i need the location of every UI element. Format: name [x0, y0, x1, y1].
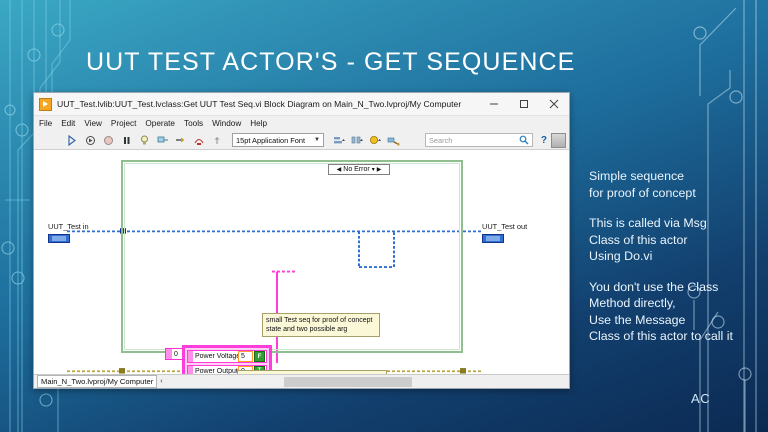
status-context-label: Main_N_Two.lvproj/My Computer	[37, 375, 157, 388]
cluster-row-name: Power Voltage	[193, 353, 238, 360]
reorder-icon[interactable]	[387, 134, 400, 147]
status-arrow-icon[interactable]: ‹	[160, 378, 162, 385]
step-out-icon[interactable]	[210, 134, 223, 147]
comment-line: the error cluster across even in the "No…	[241, 373, 383, 374]
window-titlebar[interactable]: UUT_Test.lvlib:UUT_Test.lvclass:Get UUT …	[34, 93, 569, 116]
close-icon[interactable]	[539, 93, 569, 115]
note-line: This is called via Msg	[589, 215, 767, 232]
toolbar: 15pt Application Font ▼ Search ?	[34, 131, 569, 150]
note-line: Method directly,	[589, 295, 767, 312]
note-block: Simple sequence for proof of concept	[589, 168, 767, 201]
chevron-down-icon: ▼	[314, 137, 320, 143]
status-bar: Main_N_Two.lvproj/My Computer ‹	[34, 374, 569, 388]
step-into-icon[interactable]	[174, 134, 187, 147]
note-line: Class of this actor to call it	[589, 328, 767, 345]
notes-panel: Simple sequence for proof of concept Thi…	[589, 168, 767, 359]
font-selector-label: 15pt Application Font	[236, 136, 314, 145]
note-line: for proof of concept	[589, 185, 767, 202]
comment-line: state and two possible arg	[266, 325, 376, 334]
minimize-icon[interactable]	[479, 93, 509, 115]
table-row[interactable]: Power Voltage 5 F	[187, 350, 267, 363]
run-continuously-icon[interactable]	[84, 134, 97, 147]
note-line: Use the Message	[589, 312, 767, 329]
font-selector[interactable]: 15pt Application Font ▼	[232, 133, 324, 147]
menu-bar: File Edit View Project Operate Tools Win…	[34, 116, 569, 131]
retain-wire-values-icon[interactable]	[156, 134, 169, 147]
chevron-down-icon[interactable]: ▾	[372, 166, 375, 173]
case-selector[interactable]: ◀ No Error ▾ ▶	[328, 164, 390, 175]
note-block: This is called via Msg Class of this act…	[589, 215, 767, 265]
note-line: You don't use the Class	[589, 279, 767, 296]
highlight-execution-icon[interactable]	[138, 134, 151, 147]
block-diagram-canvas[interactable]: ◀ No Error ▾ ▶ UUT_Test in UUT_Test out …	[34, 150, 569, 374]
menu-item-project[interactable]: Project	[111, 119, 136, 128]
note-line: Class of this actor	[589, 232, 767, 249]
author-signature: AC	[691, 391, 710, 406]
help-question-icon[interactable]: ?	[541, 135, 547, 146]
terminal-uut-test-out[interactable]	[482, 234, 504, 243]
menu-item-edit[interactable]: Edit	[61, 119, 75, 128]
terminal-label-uut-test-out: UUT_Test out	[482, 222, 527, 231]
search-input[interactable]: Search	[425, 133, 533, 147]
resize-objects-icon[interactable]	[369, 134, 382, 147]
search-icon[interactable]	[519, 135, 529, 145]
note-line: Using Do.vi	[589, 248, 767, 265]
bool-led-icon[interactable]: F	[254, 351, 265, 362]
case-prev-arrow-icon[interactable]: ◀	[337, 166, 342, 173]
menu-item-file[interactable]: File	[39, 119, 52, 128]
align-objects-icon[interactable]	[333, 134, 346, 147]
comment-box[interactable]: small Test seq for proof of concept stat…	[262, 313, 380, 337]
menu-item-operate[interactable]: Operate	[145, 119, 175, 128]
labview-block-diagram-window: UUT_Test.lvlib:UUT_Test.lvclass:Get UUT …	[33, 92, 570, 389]
abort-icon[interactable]	[102, 134, 115, 147]
comment-line: small Test seq for proof of concept	[266, 316, 376, 325]
cluster-row-name: Power Output	[193, 368, 238, 374]
note-block: You don't use the Class Method directly,…	[589, 279, 767, 345]
run-icon[interactable]	[66, 134, 79, 147]
terminal-uut-test-in[interactable]	[48, 234, 70, 243]
window-title: UUT_Test.lvlib:UUT_Test.lvclass:Get UUT …	[57, 99, 479, 109]
case-next-arrow-icon[interactable]: ▶	[377, 166, 382, 173]
labview-run-arrow-icon	[39, 98, 52, 111]
note-line: Simple sequence	[589, 168, 767, 185]
menu-item-help[interactable]: Help	[250, 119, 267, 128]
cluster-row-value[interactable]: 5	[238, 351, 253, 362]
terminal-label-uut-test-in: UUT_Test in	[48, 222, 89, 231]
menu-item-view[interactable]: View	[84, 119, 102, 128]
step-over-icon[interactable]	[192, 134, 205, 147]
case-selector-label: No Error	[343, 166, 369, 173]
menu-item-tools[interactable]: Tools	[184, 119, 203, 128]
vi-icon-pane[interactable]	[551, 133, 566, 148]
distribute-objects-icon[interactable]	[351, 134, 364, 147]
comment-box[interactable]: the error cluster across even in the "No…	[237, 370, 387, 374]
search-placeholder: Search	[429, 136, 516, 145]
menu-item-window[interactable]: Window	[212, 119, 241, 128]
maximize-icon[interactable]	[509, 93, 539, 115]
horizontal-scrollbar[interactable]	[284, 377, 569, 387]
pause-icon[interactable]	[120, 134, 133, 147]
page-title: UUT TEST ACTOR'S - GET SEQUENCE	[86, 48, 575, 77]
